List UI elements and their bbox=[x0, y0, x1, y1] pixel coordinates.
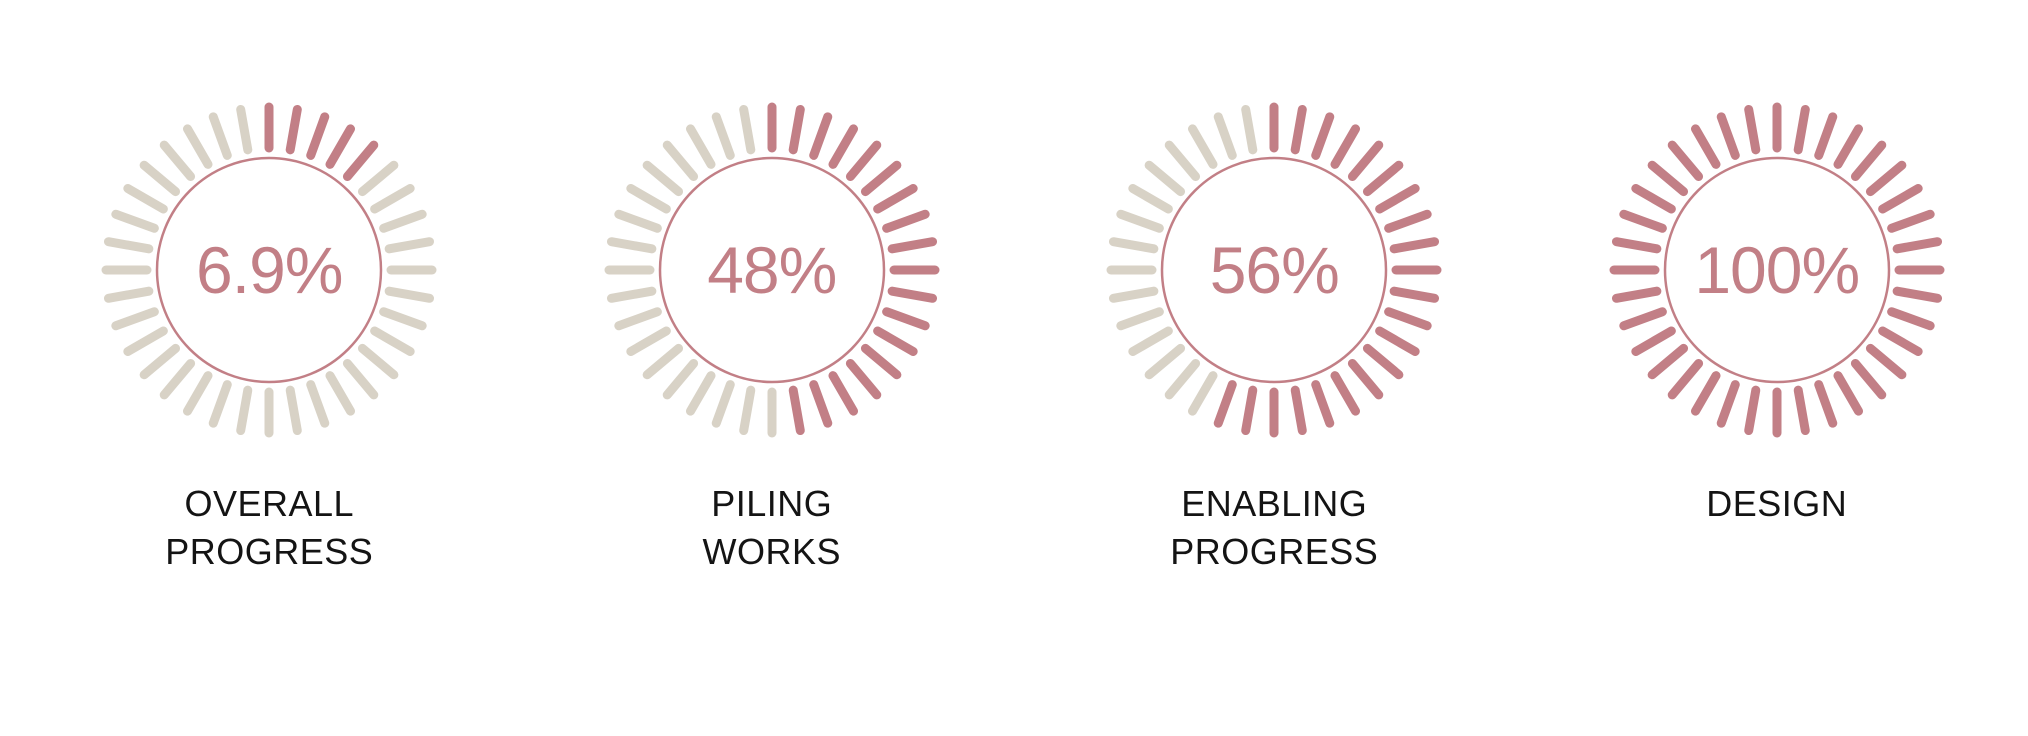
gauge-tick bbox=[384, 214, 423, 228]
gauge-ticks-svg-1 bbox=[99, 100, 439, 440]
gauge-tick bbox=[850, 363, 876, 394]
gauge-tick bbox=[1897, 291, 1937, 298]
gauge-tick bbox=[116, 312, 155, 326]
gauge-tick bbox=[1394, 291, 1434, 298]
gauge-tick bbox=[311, 385, 325, 424]
gauge-tick bbox=[813, 117, 827, 156]
gauge-tick bbox=[144, 348, 175, 374]
gauge-tick bbox=[865, 165, 896, 191]
gauge-tick bbox=[128, 189, 164, 210]
gauge-tick bbox=[619, 312, 658, 326]
gauge-tick bbox=[716, 117, 730, 156]
gauge-tick bbox=[1855, 145, 1881, 176]
gauge-label-enabling-progress: ENABLING PROGRESS bbox=[1170, 480, 1378, 576]
gauge-tick bbox=[1855, 363, 1881, 394]
gauge-tick bbox=[1882, 189, 1918, 210]
gauge-tick bbox=[164, 363, 190, 394]
gauge-tick bbox=[716, 385, 730, 424]
gauge-ring-circle-4 bbox=[1665, 158, 1889, 382]
gauge-tick bbox=[1335, 129, 1356, 165]
tick-group-4 bbox=[1614, 107, 1940, 433]
gauge-tick bbox=[1335, 376, 1356, 412]
gauge-tick bbox=[1133, 189, 1169, 210]
gauge-tick bbox=[1380, 331, 1416, 352]
gauge-tick bbox=[348, 363, 374, 394]
progress-gauges-dashboard: 6.9% OVERALL PROGRESS 48% PILING WORKS 5… bbox=[0, 0, 2028, 736]
gauge-tick bbox=[690, 376, 711, 412]
gauge-tick bbox=[892, 242, 932, 249]
gauge-tick bbox=[1897, 242, 1937, 249]
gauge-tick bbox=[1672, 363, 1698, 394]
gauge-tick bbox=[188, 129, 209, 165]
gauge-tick bbox=[1838, 376, 1859, 412]
gauge-tick bbox=[330, 376, 351, 412]
gauge-tick bbox=[363, 165, 394, 191]
gauge-tick bbox=[330, 129, 351, 165]
gauge-tick bbox=[214, 117, 228, 156]
gauge-tick bbox=[877, 189, 913, 210]
gauge-tick bbox=[375, 189, 411, 210]
gauge-tick bbox=[1389, 214, 1428, 228]
gauge-tick bbox=[144, 165, 175, 191]
gauge-tick bbox=[1295, 390, 1302, 430]
gauge-tick bbox=[793, 109, 800, 149]
gauge-tick bbox=[886, 312, 925, 326]
gauge-label-piling-works: PILING WORKS bbox=[702, 480, 841, 576]
gauge-tick bbox=[1389, 312, 1428, 326]
gauge-tick bbox=[1636, 331, 1672, 352]
radial-gauge-piling-works: 48% bbox=[602, 100, 942, 440]
gauge-tick bbox=[1368, 348, 1399, 374]
gauge-tick bbox=[311, 117, 325, 156]
gauge-card-piling-works: 48% PILING WORKS bbox=[521, 100, 1024, 576]
gauge-tick bbox=[667, 363, 693, 394]
gauge-tick bbox=[865, 348, 896, 374]
gauge-tick bbox=[214, 385, 228, 424]
gauge-tick bbox=[348, 145, 374, 176]
gauge-tick bbox=[690, 129, 711, 165]
gauge-tick bbox=[833, 129, 854, 165]
gauge-tick bbox=[1624, 312, 1663, 326]
gauge-ring-circle-3 bbox=[1162, 158, 1386, 382]
gauge-tick bbox=[813, 385, 827, 424]
gauge-tick bbox=[1870, 348, 1901, 374]
gauge-tick bbox=[647, 165, 678, 191]
gauge-tick bbox=[1121, 214, 1160, 228]
gauge-tick bbox=[1798, 390, 1805, 430]
gauge-tick bbox=[1133, 331, 1169, 352]
gauge-tick bbox=[1891, 214, 1930, 228]
tick-group-3 bbox=[1111, 107, 1437, 433]
gauge-tick bbox=[1316, 385, 1330, 424]
gauge-tick bbox=[1394, 242, 1434, 249]
gauge-ticks-svg-2 bbox=[602, 100, 942, 440]
gauge-tick bbox=[1380, 189, 1416, 210]
gauge-tick bbox=[1652, 348, 1683, 374]
gauge-tick bbox=[667, 145, 693, 176]
gauge-tick bbox=[619, 214, 658, 228]
gauge-tick bbox=[1882, 331, 1918, 352]
gauge-card-overall-progress: 6.9% OVERALL PROGRESS bbox=[18, 100, 521, 576]
gauge-tick bbox=[116, 214, 155, 228]
gauge-tick bbox=[1295, 109, 1302, 149]
gauge-tick bbox=[1353, 145, 1379, 176]
gauge-tick bbox=[1316, 117, 1330, 156]
gauge-tick bbox=[1219, 117, 1233, 156]
gauge-ticks-svg-4 bbox=[1607, 100, 1947, 440]
gauge-tick bbox=[1114, 242, 1154, 249]
gauge-tick bbox=[1721, 385, 1735, 424]
gauge-tick bbox=[241, 109, 248, 149]
gauge-label-overall-progress: OVERALL PROGRESS bbox=[165, 480, 373, 576]
gauge-tick bbox=[1353, 363, 1379, 394]
gauge-tick bbox=[241, 390, 248, 430]
gauge-tick bbox=[1870, 165, 1901, 191]
gauge-tick bbox=[128, 331, 164, 352]
gauge-tick bbox=[833, 376, 854, 412]
gauge-tick bbox=[164, 145, 190, 176]
gauge-tick bbox=[793, 390, 800, 430]
gauge-tick bbox=[1818, 385, 1832, 424]
gauge-tick bbox=[188, 376, 209, 412]
gauge-tick bbox=[1246, 390, 1253, 430]
gauge-tick bbox=[611, 242, 651, 249]
gauge-tick bbox=[743, 109, 750, 149]
gauge-tick bbox=[1798, 109, 1805, 149]
gauge-tick bbox=[1246, 109, 1253, 149]
gauge-tick bbox=[1616, 291, 1656, 298]
gauge-tick bbox=[363, 348, 394, 374]
gauge-tick bbox=[1636, 189, 1672, 210]
gauge-tick bbox=[109, 242, 149, 249]
gauge-tick bbox=[389, 291, 429, 298]
gauge-tick bbox=[850, 145, 876, 176]
gauge-tick bbox=[1748, 390, 1755, 430]
gauge-tick bbox=[1652, 165, 1683, 191]
gauge-tick bbox=[886, 214, 925, 228]
gauge-tick bbox=[892, 291, 932, 298]
gauge-tick bbox=[877, 331, 913, 352]
gauge-tick bbox=[1219, 385, 1233, 424]
gauge-tick bbox=[647, 348, 678, 374]
radial-gauge-enabling-progress: 56% bbox=[1104, 100, 1444, 440]
gauge-tick bbox=[1121, 312, 1160, 326]
gauge-tick bbox=[1818, 117, 1832, 156]
gauge-tick bbox=[1695, 129, 1716, 165]
gauge-tick bbox=[1672, 145, 1698, 176]
gauge-tick bbox=[631, 331, 666, 352]
gauge-tick bbox=[1149, 165, 1180, 191]
gauge-tick bbox=[1748, 109, 1755, 149]
radial-gauge-overall-progress: 6.9% bbox=[99, 100, 439, 440]
radial-gauge-design: 100% bbox=[1607, 100, 1947, 440]
gauge-tick bbox=[1368, 165, 1399, 191]
gauge-tick bbox=[611, 291, 651, 298]
gauge-tick bbox=[1838, 129, 1859, 165]
gauge-tick bbox=[389, 242, 429, 249]
gauge-ring-circle-2 bbox=[660, 158, 884, 382]
tick-group-2 bbox=[609, 107, 935, 433]
gauge-tick bbox=[1114, 291, 1154, 298]
gauge-tick bbox=[290, 109, 297, 149]
gauge-tick bbox=[1695, 376, 1716, 412]
gauge-card-enabling-progress: 56% ENABLING PROGRESS bbox=[1023, 100, 1526, 576]
gauge-tick bbox=[109, 291, 149, 298]
gauge-tick bbox=[1891, 312, 1930, 326]
gauge-tick bbox=[384, 312, 423, 326]
gauge-tick bbox=[743, 390, 750, 430]
gauge-tick bbox=[375, 331, 411, 352]
tick-group-1 bbox=[106, 107, 432, 433]
gauge-tick bbox=[631, 189, 666, 210]
gauge-tick bbox=[1169, 145, 1195, 176]
gauge-tick bbox=[1721, 117, 1735, 156]
gauge-ticks-svg-3 bbox=[1104, 100, 1444, 440]
gauge-tick bbox=[1169, 363, 1195, 394]
gauge-ring-circle-1 bbox=[157, 158, 381, 382]
gauge-tick bbox=[1616, 242, 1656, 249]
gauge-tick bbox=[1149, 348, 1180, 374]
gauge-tick bbox=[1193, 376, 1214, 412]
gauge-card-design: 100% DESIGN bbox=[1526, 100, 2028, 528]
gauge-tick bbox=[290, 390, 297, 430]
gauge-label-design: DESIGN bbox=[1706, 480, 1847, 528]
gauge-tick bbox=[1193, 129, 1214, 165]
gauge-tick bbox=[1624, 214, 1663, 228]
